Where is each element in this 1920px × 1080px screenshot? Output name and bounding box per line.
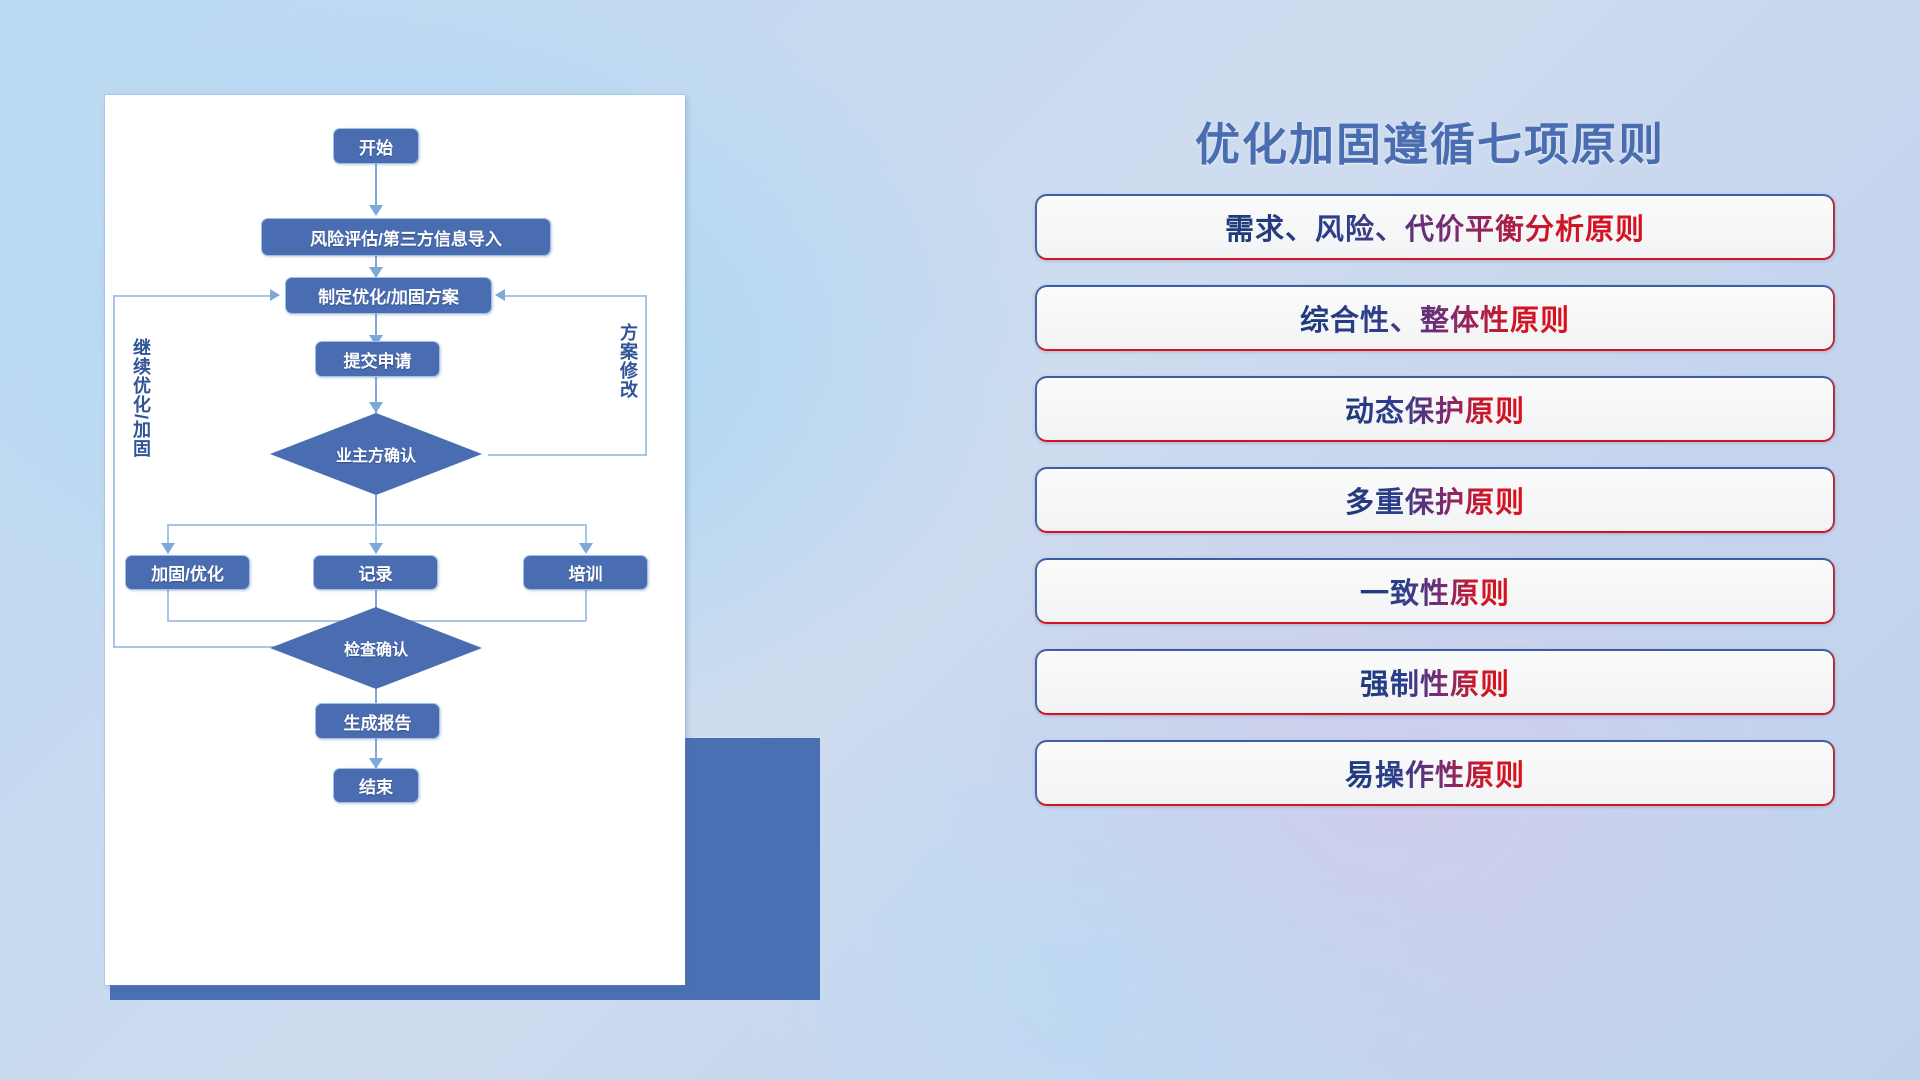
flow-node-reinforce-optimize-label: 加固/优化 (151, 560, 224, 585)
right-loop-bottom-line (488, 454, 647, 456)
edge-owner-to-split (375, 495, 377, 525)
flow-node-end-label: 结束 (359, 773, 393, 798)
principles-panel: 优化加固遵循七项原则 需求、风险、代价平衡分析原则 综合性、整体性原则 动态保护… (1020, 0, 1920, 1080)
flow-node-record[interactable]: 记录 (313, 555, 438, 590)
right-loop-vertical-line (645, 295, 647, 455)
flow-node-make-plan-label: 制定优化/加固方案 (318, 283, 459, 308)
flow-decision-final-check-label: 检查确认 (344, 636, 408, 660)
edge-label-continue-optimize: 继续优化/加固 (128, 338, 154, 458)
principle-card-4-label: 多重保护原则 (1345, 479, 1525, 521)
right-loop-top-line (505, 295, 647, 297)
branch-right-arrow (579, 543, 593, 554)
principle-card-7-label: 易操作性原则 (1345, 752, 1525, 794)
principle-card-4[interactable]: 多重保护原则 (1035, 467, 1835, 533)
principle-card-1[interactable]: 需求、风险、代价平衡分析原则 (1035, 194, 1835, 260)
branch-split-bar (167, 524, 586, 526)
flow-node-submit-application-label: 提交申请 (344, 347, 412, 372)
flow-node-make-plan[interactable]: 制定优化/加固方案 (285, 277, 492, 314)
principle-card-6[interactable]: 强制性原则 (1035, 649, 1835, 715)
principle-card-5-label: 一致性原则 (1360, 570, 1510, 612)
flow-node-generate-report-label: 生成报告 (344, 709, 412, 734)
flowchart-card: 继续优化/加固 方案修改 开始 风险评估/第三方信息导入 制定优化/加固方案 提… (105, 95, 685, 985)
left-loop-arrowhead (270, 289, 280, 301)
principle-card-1-label: 需求、风险、代价平衡分析原则 (1225, 206, 1645, 248)
edge-label-plan-revision: 方案修改 (615, 323, 641, 399)
flow-node-end[interactable]: 结束 (333, 768, 419, 803)
flow-node-reinforce-optimize[interactable]: 加固/优化 (125, 555, 250, 590)
principle-card-3[interactable]: 动态保护原则 (1035, 376, 1835, 442)
flow-node-risk-assessment-label: 风险评估/第三方信息导入 (310, 225, 502, 250)
principle-card-6-label: 强制性原则 (1360, 661, 1510, 703)
flow-decision-owner-confirm[interactable]: 业主方确认 (270, 413, 482, 495)
principle-card-7[interactable]: 易操作性原则 (1035, 740, 1835, 806)
flow-node-generate-report[interactable]: 生成报告 (315, 703, 440, 739)
edge-submit-to-owner-arrow (369, 402, 383, 413)
left-loop-vertical-line (113, 295, 115, 647)
flow-decision-owner-confirm-label: 业主方确认 (336, 442, 416, 466)
left-loop-top-line (113, 295, 273, 297)
branch-mid-arrow (369, 543, 383, 554)
branch-left-arrow (161, 543, 175, 554)
edge-start-to-risk-arrow (369, 205, 383, 216)
principle-card-3-label: 动态保护原则 (1345, 388, 1525, 430)
flow-node-record-label: 记录 (359, 560, 393, 585)
flow-node-submit-application[interactable]: 提交申请 (315, 341, 440, 377)
flow-node-risk-assessment[interactable]: 风险评估/第三方信息导入 (261, 218, 551, 256)
page-title: 优化加固遵循七项原则 (1020, 108, 1840, 173)
right-loop-arrowhead (495, 289, 505, 301)
principle-card-2[interactable]: 综合性、整体性原则 (1035, 285, 1835, 351)
edge-start-to-risk (375, 164, 377, 211)
flow-node-training-label: 培训 (569, 560, 603, 585)
merge-left-riser (167, 590, 169, 621)
principle-card-5[interactable]: 一致性原则 (1035, 558, 1835, 624)
flow-node-start-label: 开始 (359, 134, 393, 159)
principle-card-2-label: 综合性、整体性原则 (1300, 297, 1570, 339)
merge-right-riser (585, 590, 587, 621)
slide-canvas: 继续优化/加固 方案修改 开始 风险评估/第三方信息导入 制定优化/加固方案 提… (0, 0, 1920, 1080)
flow-node-training[interactable]: 培训 (523, 555, 648, 590)
flow-node-start[interactable]: 开始 (333, 128, 419, 164)
